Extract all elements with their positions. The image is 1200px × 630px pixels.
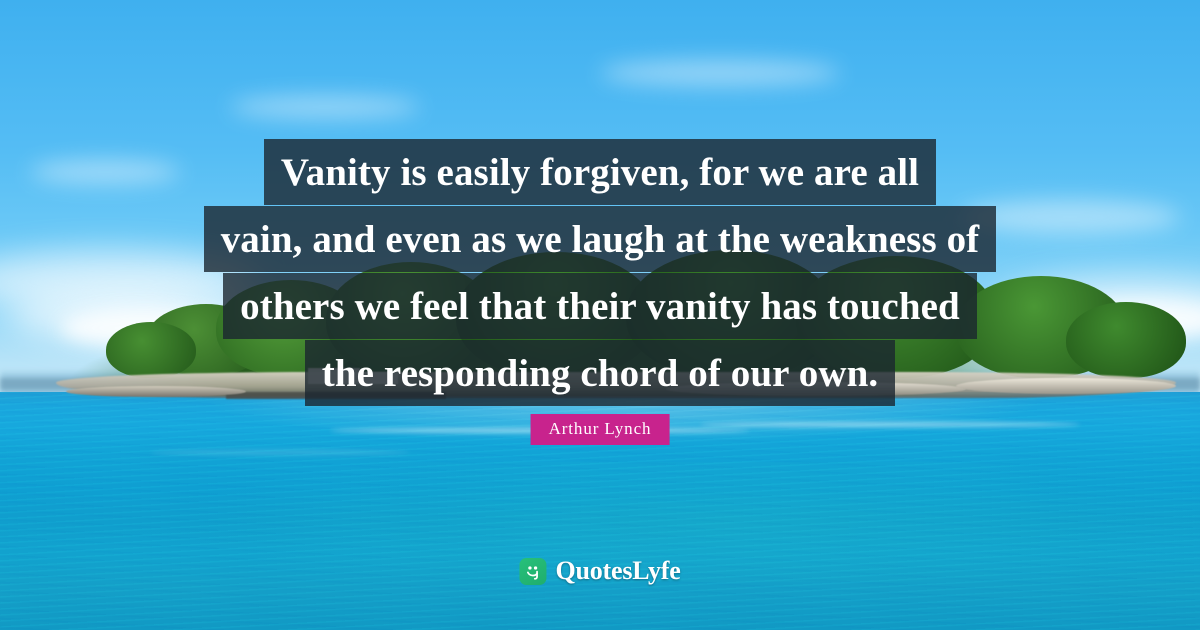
brand-logo[interactable]: QuotesLyfe (519, 556, 680, 586)
author-badge: Arthur Lynch (531, 414, 670, 445)
quote-line: others we feel that their vanity has tou… (223, 273, 977, 339)
quote-line: the responding chord of our own. (305, 340, 896, 406)
quote-line: Vanity is easily forgiven, for we are al… (264, 139, 936, 205)
brand-name: QuotesLyfe (555, 556, 680, 586)
quote-text: Vanity is easily forgiven, for we are al… (0, 139, 1200, 407)
quote-card: Vanity is easily forgiven, for we are al… (0, 0, 1200, 630)
overlay-content: Vanity is easily forgiven, for we are al… (0, 0, 1200, 630)
quote-smiley-icon (519, 558, 546, 585)
quote-line: vain, and even as we laugh at the weakne… (204, 206, 997, 272)
